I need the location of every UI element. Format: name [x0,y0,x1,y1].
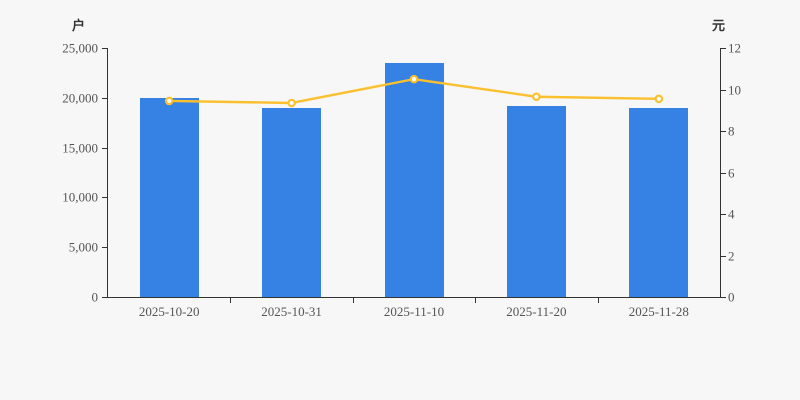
right-axis-tick-label: 6 [728,166,735,179]
chart-container: 户 元 05,00010,00015,00020,00025,000 02468… [0,0,800,400]
x-axis-category-label: 2025-11-10 [384,305,444,318]
x-axis-category-label: 2025-11-20 [506,305,566,318]
right-axis-tick-label: 0 [728,291,735,304]
x-axis-tick [598,298,599,303]
right-axis-tick-label: 10 [728,83,741,96]
line-series-marker[interactable]: 2025-11-20: 9.65 元 [533,94,539,100]
left-axis-tick [102,48,107,49]
left-axis-tick-label: 0 [92,291,99,304]
line-series-marker[interactable]: 2025-11-28: 9.55 元 [656,96,662,102]
x-axis-line [107,297,721,298]
left-axis-tick [102,247,107,248]
right-axis-tick-label: 12 [728,42,741,55]
left-axis-tick-label: 15,000 [62,141,98,154]
x-axis-category-label: 2025-10-20 [139,305,200,318]
right-axis-tick [721,90,726,91]
left-axis-tick [102,148,107,149]
line-series-layer: 2025-10-20: 9.45 元2025-10-31: 9.35 元2025… [108,48,720,297]
left-axis-tick-label: 25,000 [62,42,98,55]
left-axis-tick [102,98,107,99]
x-axis-tick [475,298,476,303]
x-axis-category-label: 2025-11-28 [629,305,689,318]
line-series-marker[interactable]: 2025-10-20: 9.45 元 [166,98,172,104]
right-axis-tick [721,173,726,174]
x-axis-tick [230,298,231,303]
right-axis-tick-label: 8 [728,125,735,138]
right-axis-tick-label: 4 [728,208,735,221]
right-axis-tick [721,48,726,49]
right-axis-tick [721,214,726,215]
left-axis-tick-label: 10,000 [62,191,98,204]
left-axis-tick-label: 5,000 [69,241,98,254]
line-series-marker[interactable]: 2025-11-10: 10.5 元 [411,76,417,82]
left-axis-tick-label: 20,000 [62,91,98,104]
x-axis-tick [353,298,354,303]
x-axis-category-label: 2025-10-31 [261,305,322,318]
line-series-marker[interactable]: 2025-10-31: 9.35 元 [288,100,294,106]
right-axis-tick [721,297,726,298]
right-axis-tick [721,131,726,132]
right-axis-unit-label: 元 [712,20,725,33]
left-axis-tick [102,297,107,298]
right-axis-tick [721,256,726,257]
left-axis-unit-label: 户 [72,20,85,33]
left-axis-tick [102,197,107,198]
right-axis-tick-label: 2 [728,249,735,262]
